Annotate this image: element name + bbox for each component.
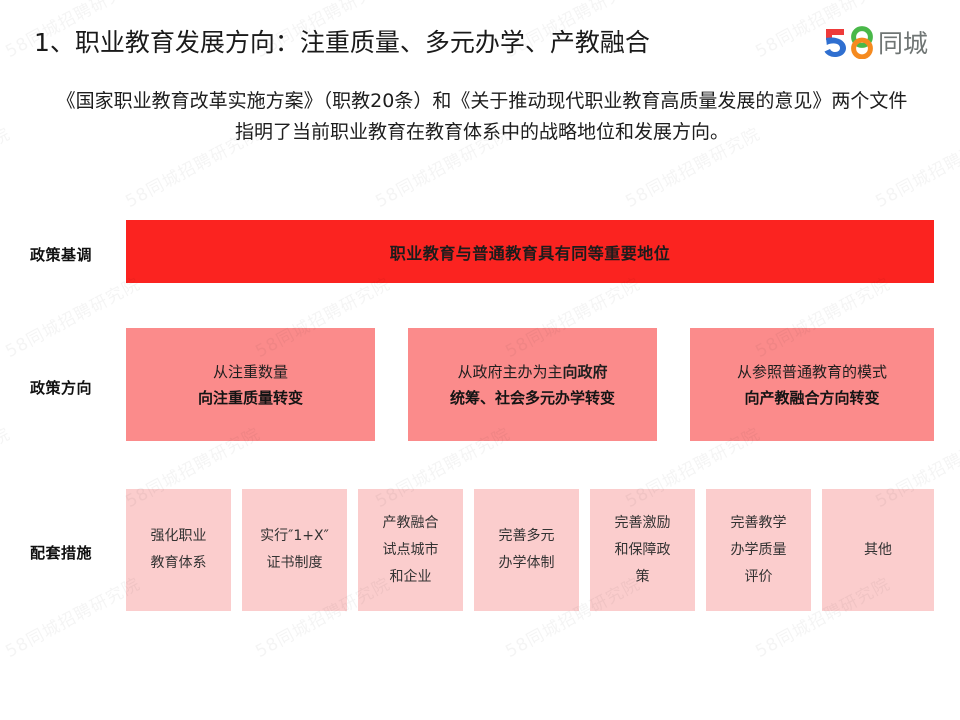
- measure-line: 和企业: [390, 564, 432, 591]
- direction-line-1: 从政府主办为主向政府: [457, 359, 607, 385]
- direction-line-2: 统筹、社会多元办学转变: [450, 385, 615, 411]
- measure-line: 强化职业: [151, 523, 207, 550]
- direction-line-2: 向注重质量转变: [198, 385, 303, 411]
- support-measure-box: 产教融合 试点城市 和企业: [358, 489, 463, 611]
- measure-line: 产教融合: [383, 510, 439, 537]
- measure-line: 评价: [745, 564, 773, 591]
- direction-line-2: 向产教融合方向转变: [744, 385, 879, 411]
- policy-direction-box: 从政府主办为主向政府 统筹、社会多元办学转变: [408, 328, 657, 441]
- measure-line: 证书制度: [267, 550, 323, 577]
- policy-tone-bar: 职业教育与普通教育具有同等重要地位: [126, 220, 934, 283]
- measure-line: 完善教学: [731, 510, 787, 537]
- measure-line: 教育体系: [151, 550, 207, 577]
- measure-line: 试点城市: [383, 537, 439, 564]
- measure-line: 办学体制: [499, 550, 555, 577]
- support-measure-box: 强化职业 教育体系: [126, 489, 231, 611]
- support-measure-box: 完善教学 办学质量 评价: [706, 489, 811, 611]
- row-label-support-measures: 配套措施: [30, 542, 122, 563]
- row-label-policy-direction: 政策方向: [30, 377, 122, 398]
- policy-tone-text: 职业教育与普通教育具有同等重要地位: [390, 240, 671, 264]
- measure-line: 办学质量: [731, 537, 787, 564]
- policy-direction-box: 从注重数量 向注重质量转变: [126, 328, 375, 441]
- support-measure-box: 完善多元 办学体制: [474, 489, 579, 611]
- measure-line: 和保障政: [615, 537, 671, 564]
- measure-line: 完善激励: [615, 510, 671, 537]
- support-measure-box: 实行″1+X″ 证书制度: [242, 489, 347, 611]
- measure-line: 完善多元: [499, 523, 555, 550]
- measure-line: 策: [636, 564, 650, 591]
- policy-diagram: 政策基调 职业教育与普通教育具有同等重要地位 政策方向 从注重数量 向注重质量转…: [0, 0, 960, 720]
- direction-line-1: 从注重数量: [213, 359, 288, 385]
- measure-line: 实行″1+X″: [260, 523, 329, 550]
- policy-direction-box: 从参照普通教育的模式 向产教融合方向转变: [690, 328, 934, 441]
- support-measure-box: 完善激励 和保障政 策: [590, 489, 695, 611]
- direction-line-1: 从参照普通教育的模式: [737, 359, 887, 385]
- support-measure-box: 其他: [822, 489, 934, 611]
- measure-line: 其他: [864, 537, 892, 564]
- row-label-policy-tone: 政策基调: [30, 244, 122, 265]
